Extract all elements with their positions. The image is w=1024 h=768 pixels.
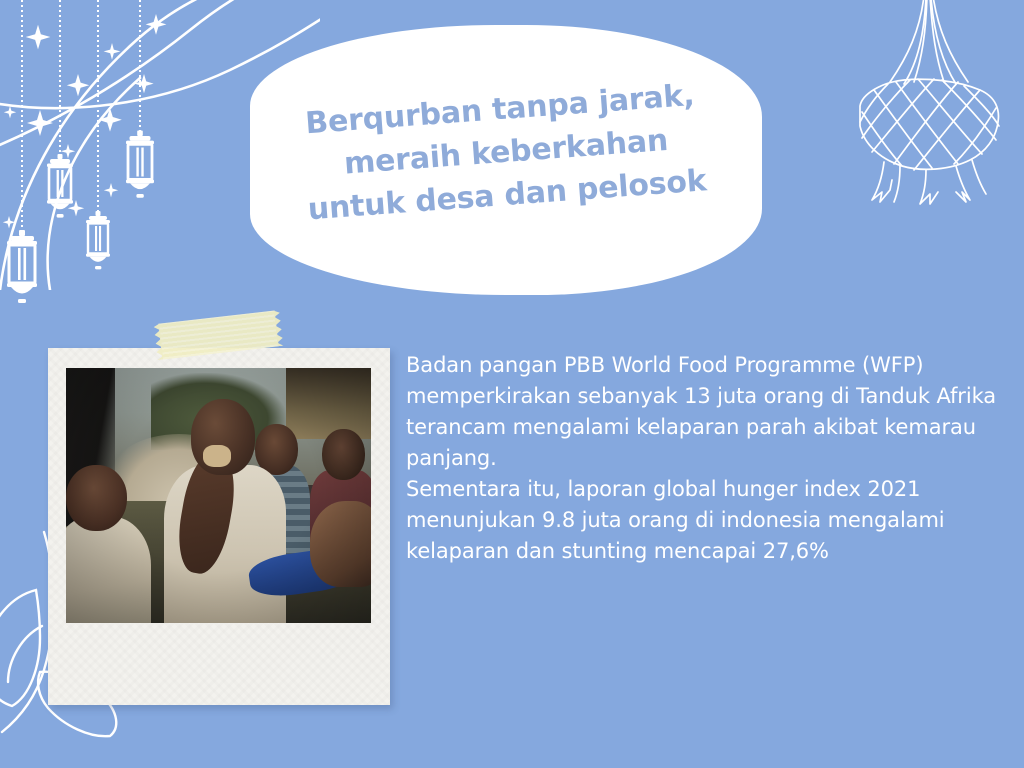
body-paragraph-1: Badan pangan PBB World Food Programme (W… <box>406 350 1006 474</box>
ketupat-icon <box>838 0 1018 206</box>
body-copy: Badan pangan PBB World Food Programme (W… <box>406 350 1006 567</box>
body-paragraph-2: Sementara itu, laporan global hunger ind… <box>406 474 1006 567</box>
polaroid-frame <box>48 348 390 705</box>
children-eating-photo <box>66 368 371 623</box>
hanging-lantern-icon <box>0 0 280 330</box>
slide-canvas: Berqurban tanpa jarak, meraih keberkahan… <box>0 0 1024 768</box>
